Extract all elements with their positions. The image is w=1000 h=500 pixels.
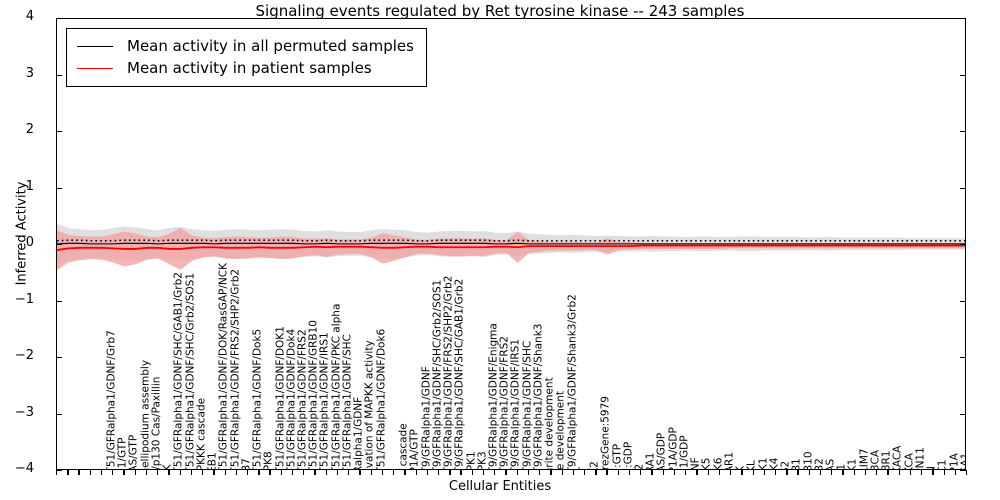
x-tick-mark (416, 470, 417, 475)
x-tick-mark (247, 470, 248, 475)
y-tick-mark (56, 131, 62, 132)
x-tick-mark (337, 470, 338, 475)
x-tick-mark (764, 470, 765, 475)
x-tick-mark (180, 470, 181, 475)
x-tick-mark (640, 470, 641, 475)
y-tick-label: 1 (0, 179, 34, 194)
x-tick-mark (281, 470, 282, 475)
chart-legend: Mean activity in all permuted samples Me… (66, 28, 427, 87)
x-tick-mark (741, 470, 742, 475)
y-tick-label: −4 (0, 461, 34, 476)
legend-item-patient: Mean activity in patient samples (77, 57, 414, 79)
x-tick-mark (550, 470, 551, 475)
x-tick-mark (696, 470, 697, 475)
x-tick-mark (797, 470, 798, 475)
x-tick-mark (820, 470, 821, 475)
y-axis-label: Inferred Activity (15, 24, 30, 444)
y-tick-mark (960, 301, 966, 302)
x-tick-mark (775, 470, 776, 475)
x-tick-mark (191, 470, 192, 475)
x-tick-mark (651, 470, 652, 475)
x-tick-mark (606, 470, 607, 475)
x-tick-mark (595, 470, 596, 475)
y-tick-mark (56, 75, 62, 76)
x-tick-mark (112, 470, 113, 475)
x-tick-mark (326, 470, 327, 475)
y-tick-mark (56, 18, 62, 19)
x-tick-mark (517, 470, 518, 475)
x-tick-mark (674, 470, 675, 475)
x-tick-mark (168, 470, 169, 475)
x-tick-mark (348, 470, 349, 475)
x-tick-mark (472, 470, 473, 475)
y-tick-mark (960, 244, 966, 245)
x-tick-mark (966, 470, 967, 475)
x-tick-mark (629, 470, 630, 475)
x-tick-mark (359, 470, 360, 475)
x-tick-mark (404, 470, 405, 475)
y-tick-label: −3 (0, 405, 34, 420)
x-tick-mark (573, 470, 574, 475)
y-tick-mark (56, 414, 62, 415)
x-tick-mark (562, 470, 563, 475)
y-tick-label: −1 (0, 292, 34, 307)
x-tick-mark (618, 470, 619, 475)
x-tick-mark (269, 470, 270, 475)
x-tick-mark (708, 470, 709, 475)
x-tick-mark (314, 470, 315, 475)
x-tick-mark (932, 470, 933, 475)
x-tick-mark (78, 470, 79, 475)
x-tick-mark (303, 470, 304, 475)
y-tick-mark (56, 470, 62, 471)
x-tick-mark (786, 470, 787, 475)
x-tick-mark (719, 470, 720, 475)
x-tick-mark (292, 470, 293, 475)
y-tick-mark (960, 18, 966, 19)
x-tick-mark (955, 470, 956, 475)
x-tick-mark (371, 470, 372, 475)
legend-item-permuted: Mean activity in all permuted samples (77, 35, 414, 57)
legend-label-patient: Mean activity in patient samples (127, 59, 372, 77)
x-tick-mark (101, 470, 102, 475)
x-tick-mark (831, 470, 832, 475)
y-tick-mark (56, 244, 62, 245)
chart-root: Signaling events regulated by Ret tyrosi… (0, 0, 1000, 500)
permuted-mean-line (57, 243, 966, 244)
y-tick-label: −2 (0, 348, 34, 363)
x-tick-mark (865, 470, 866, 475)
x-tick-mark (135, 470, 136, 475)
x-tick-mark (67, 470, 68, 475)
x-tick-mark (809, 470, 810, 475)
x-tick-mark (854, 470, 855, 475)
x-tick-mark (460, 470, 461, 475)
x-tick-mark (438, 470, 439, 475)
y-tick-mark (960, 188, 966, 189)
x-tick-mark (899, 470, 900, 475)
y-tick-mark (960, 131, 966, 132)
x-tick-mark (584, 470, 585, 475)
x-tick-mark (483, 470, 484, 475)
x-tick-mark (685, 470, 686, 475)
y-tick-mark (56, 301, 62, 302)
y-tick-mark (960, 470, 966, 471)
y-tick-mark (56, 357, 62, 358)
x-tick-mark (393, 470, 394, 475)
legend-swatch-patient (77, 68, 113, 69)
legend-swatch-permuted (77, 46, 113, 47)
x-tick-mark (539, 470, 540, 475)
x-tick-mark (382, 470, 383, 475)
y-tick-mark (960, 75, 966, 76)
x-tick-mark (157, 470, 158, 475)
x-tick-mark (236, 470, 237, 475)
x-tick-mark (258, 470, 259, 475)
x-tick-mark (921, 470, 922, 475)
x-tick-mark (944, 470, 945, 475)
x-tick-mark (505, 470, 506, 475)
y-tick-label: 3 (0, 66, 34, 81)
x-tick-mark (494, 470, 495, 475)
x-tick-mark (842, 470, 843, 475)
x-tick-mark (146, 470, 147, 475)
x-tick-mark (730, 470, 731, 475)
x-tick-mark (449, 470, 450, 475)
x-tick-mark (528, 470, 529, 475)
x-tick-mark (213, 470, 214, 475)
legend-label-permuted: Mean activity in all permuted samples (127, 37, 414, 55)
x-tick-mark (876, 470, 877, 475)
x-tick-mark (753, 470, 754, 475)
y-tick-label: 0 (0, 235, 34, 250)
x-tick-mark (123, 470, 124, 475)
x-tick-mark (225, 470, 226, 475)
y-tick-mark (960, 414, 966, 415)
y-tick-label: 4 (0, 9, 34, 24)
x-tick-mark (887, 470, 888, 475)
x-tick-mark (910, 470, 911, 475)
y-tick-mark (56, 188, 62, 189)
x-tick-mark (90, 470, 91, 475)
x-axis-ticks (56, 470, 966, 500)
x-tick-mark (202, 470, 203, 475)
x-tick-mark (427, 470, 428, 475)
y-tick-mark (960, 357, 966, 358)
y-tick-label: 2 (0, 122, 34, 137)
x-tick-mark (663, 470, 664, 475)
